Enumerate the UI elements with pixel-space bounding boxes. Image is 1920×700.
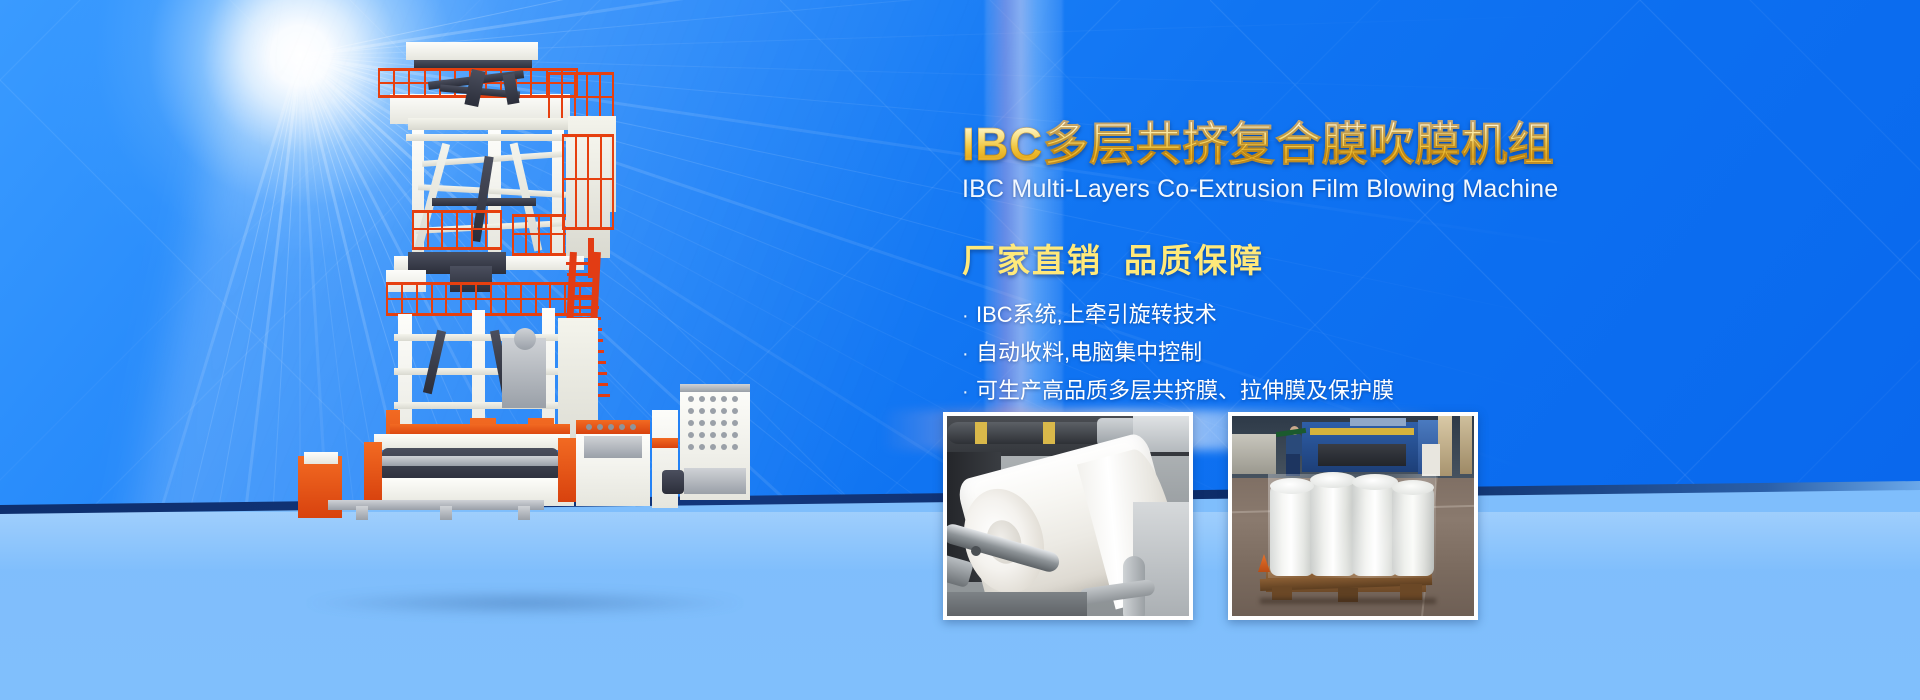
photo2-stacked-goods (1232, 434, 1276, 474)
machine-indicator-light (732, 444, 738, 450)
machine-indicator-light (688, 420, 694, 426)
feature-list: ·IBC系统,上牵引旋转技术·自动收料,电脑集中控制·可生产高品质多层共挤膜、拉… (962, 304, 1602, 402)
machine-indicator-light (699, 420, 705, 426)
machine-foot-2 (440, 506, 452, 520)
machine-control-knob (630, 424, 636, 430)
photo2-column-right (1438, 416, 1452, 476)
machine-stair-step (570, 295, 598, 298)
machine-mid-railing (386, 282, 596, 316)
machine-bed-cap-right (558, 438, 578, 502)
machine-control-knob (597, 424, 603, 430)
feature-list-item: ·自动收料,电脑集中控制 (962, 342, 1602, 364)
machine-die-cap (514, 328, 536, 350)
machine-indicator-light (688, 432, 694, 438)
photo1-roller-band-2 (1043, 422, 1055, 444)
machine-tower-cross-top (406, 134, 568, 141)
machine-winder-shaft (378, 456, 564, 466)
machine-illustration (290, 38, 750, 513)
photo2-white-post (1422, 444, 1440, 476)
product-photo-pallet-rolls[interactable] (1228, 412, 1478, 620)
machine-control-knob (586, 424, 592, 430)
machine-foot-3 (518, 506, 530, 520)
photo1-roller-band-1 (975, 422, 987, 444)
feature-list-item: ·IBC系统,上牵引旋转技术 (962, 304, 1602, 326)
feature-list-item: ·可生产高品质多层共挤膜、拉伸膜及保护膜 (962, 380, 1602, 402)
photo1-top-roller (947, 422, 1117, 444)
machine-control-knob (608, 424, 614, 430)
machine-indicator-light (721, 396, 727, 402)
tagline-right: 品质保障 (1124, 242, 1264, 279)
machine-shadow (300, 590, 750, 616)
tagline-left: 厂家直销 (962, 242, 1102, 279)
feature-list-item-label: 自动收料,电脑集中控制 (976, 342, 1202, 364)
machine-indicator-light (699, 408, 705, 414)
photo2-machine-yellow-bar (1310, 428, 1414, 435)
machine-control-display (584, 436, 642, 458)
machine-indicator-light (710, 432, 716, 438)
bullet-dot-icon: · (962, 382, 976, 402)
bullet-dot-icon: · (962, 306, 976, 326)
machine-indicator-light (721, 444, 727, 450)
hero-banner: IBC多层共挤复合膜吹膜机组 IBC Multi-Layers Co-Extru… (0, 0, 1920, 700)
feature-list-item-label: 可生产高品质多层共挤膜、拉伸膜及保护膜 (976, 380, 1394, 402)
machine-indicator-light (721, 420, 727, 426)
photo2-pallet-shadow (1260, 598, 1436, 604)
machine-tower-railing-left (412, 210, 502, 250)
machine-indicator-light (710, 444, 716, 450)
machine-upper-deck-edge (408, 118, 568, 130)
machine-aux-box-top (304, 452, 338, 464)
machine-drive-motor (662, 470, 684, 494)
photo2-column-far-right (1460, 416, 1472, 474)
machine-indicator-light (732, 396, 738, 402)
product-photo-film-roll[interactable] (943, 412, 1193, 620)
machine-indicator-light (699, 432, 705, 438)
photo2-worker-torso (1286, 434, 1302, 456)
machine-bed-cap-left (364, 442, 382, 502)
photo2-machine-roller (1318, 444, 1406, 466)
machine-control-cabinet-b-top (680, 384, 750, 392)
machine-stair-post-top (588, 238, 594, 278)
machine-foot-1 (356, 506, 368, 520)
machine-indicator-light (732, 420, 738, 426)
machine-indicator-light (710, 396, 716, 402)
banner-copy: IBC多层共挤复合膜吹膜机组 IBC Multi-Layers Co-Extru… (962, 120, 1602, 418)
machine-control-cabinet-b-door (684, 468, 746, 494)
machine-indicator-light (699, 396, 705, 402)
banner-tagline: 厂家直销品质保障 (962, 234, 1602, 282)
machine-indicator-light (710, 408, 716, 414)
machine-top-housing (406, 42, 538, 60)
machine-indicator-light (710, 420, 716, 426)
machine-tower-railing-side (562, 134, 614, 230)
banner-subtitle: IBC Multi-Layers Co-Extrusion Film Blowi… (962, 175, 1602, 204)
machine-indicator-light (732, 432, 738, 438)
machine-indicator-light (721, 432, 727, 438)
machine-control-pillar-band (652, 438, 678, 448)
machine-indicator-light (688, 444, 694, 450)
photo2-machine-label (1350, 418, 1406, 426)
photo2-worker-legs (1286, 454, 1300, 476)
machine-indicator-light (688, 408, 694, 414)
feature-list-item-label: IBC系统,上牵引旋转技术 (976, 304, 1217, 326)
machine-stair-step (569, 284, 597, 287)
machine-control-knob (619, 424, 625, 430)
machine-indicator-light (732, 408, 738, 414)
banner-title: IBC多层共挤复合膜吹膜机组 (962, 120, 1602, 169)
machine-stair-step (571, 306, 599, 309)
machine-indicator-light (699, 444, 705, 450)
photo1-base-shadow (947, 592, 1087, 616)
bullet-dot-icon: · (962, 344, 976, 364)
machine-indicator-light (688, 396, 694, 402)
machine-indicator-light (721, 408, 727, 414)
photo2-stretch-wrap-sheen (1268, 474, 1436, 578)
